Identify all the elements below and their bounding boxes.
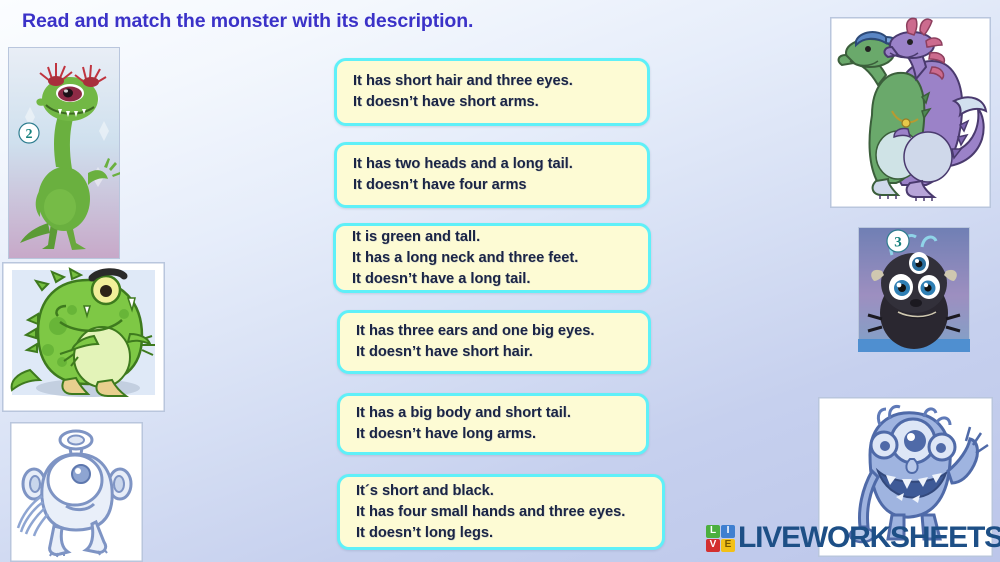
- picture-fat-green-monster: [2, 262, 165, 412]
- picture-green-long-neck-monster: 2: [8, 47, 120, 259]
- picture-badge-number: 3: [894, 235, 902, 251]
- description-line: It has a long neck and three feet.: [352, 248, 636, 269]
- description-line: It´s short and black.: [356, 481, 650, 502]
- description-box-4[interactable]: It has three ears and one big eyes. It d…: [337, 310, 651, 374]
- liveworksheets-logo[interactable]: L I V E LIVEWORKSHEETS: [706, 521, 1000, 555]
- description-line: It has a big body and short tail.: [356, 403, 634, 424]
- description-box-6[interactable]: It´s short and black. It has four small …: [337, 474, 665, 550]
- liveworksheets-wordmark: LIVEWORKSHEETS: [738, 523, 1000, 553]
- description-line: It doesn’t long legs.: [356, 523, 650, 544]
- logo-letter-i: I: [721, 525, 735, 538]
- description-line: It doesn’t have long arms.: [356, 424, 634, 445]
- logo-letter-e: E: [721, 539, 735, 552]
- logo-letter-l: L: [706, 525, 720, 538]
- description-box-1[interactable]: It has short hair and three eyes. It doe…: [334, 58, 650, 126]
- liveworksheets-logo-badge: L I V E: [706, 525, 735, 552]
- description-line: It is green and tall.: [352, 227, 636, 248]
- description-line: It doesn’t have a long tail.: [352, 269, 636, 290]
- two-headed-dragon-illustration: [830, 17, 991, 208]
- description-box-5[interactable]: It has a big body and short tail. It doe…: [337, 393, 649, 455]
- page-title: Read and match the monster with its desc…: [22, 10, 473, 33]
- description-box-2[interactable]: It has two heads and a long tail. It doe…: [334, 142, 650, 208]
- description-line: It doesn’t have four arms: [353, 175, 635, 196]
- worksheet-canvas: Read and match the monster with its desc…: [0, 0, 1000, 562]
- description-line: It has short hair and three eyes.: [353, 71, 635, 92]
- logo-letter-v: V: [706, 539, 720, 552]
- description-box-3[interactable]: It is green and tall. It has a long neck…: [333, 223, 651, 293]
- description-line: It has three ears and one big eyes.: [356, 321, 636, 342]
- picture-blue-sketch-three-ear-monster: [10, 422, 143, 562]
- blue-sketch-three-ear-monster-illustration: [10, 422, 143, 562]
- black-three-eyed-monster-illustration: 3: [858, 227, 970, 352]
- description-line: It doesn’t have short hair.: [356, 342, 636, 363]
- picture-black-three-eyed-monster: 3: [858, 227, 970, 352]
- description-line: It has two heads and a long tail.: [353, 154, 635, 175]
- picture-two-headed-dragon: [830, 17, 991, 208]
- fat-green-monster-illustration: [2, 262, 165, 412]
- green-long-neck-monster-illustration: 2: [8, 47, 120, 259]
- picture-badge-number: 2: [26, 127, 33, 142]
- description-line: It has four small hands and three eyes.: [356, 502, 650, 523]
- description-line: It doesn’t have short arms.: [353, 92, 635, 113]
